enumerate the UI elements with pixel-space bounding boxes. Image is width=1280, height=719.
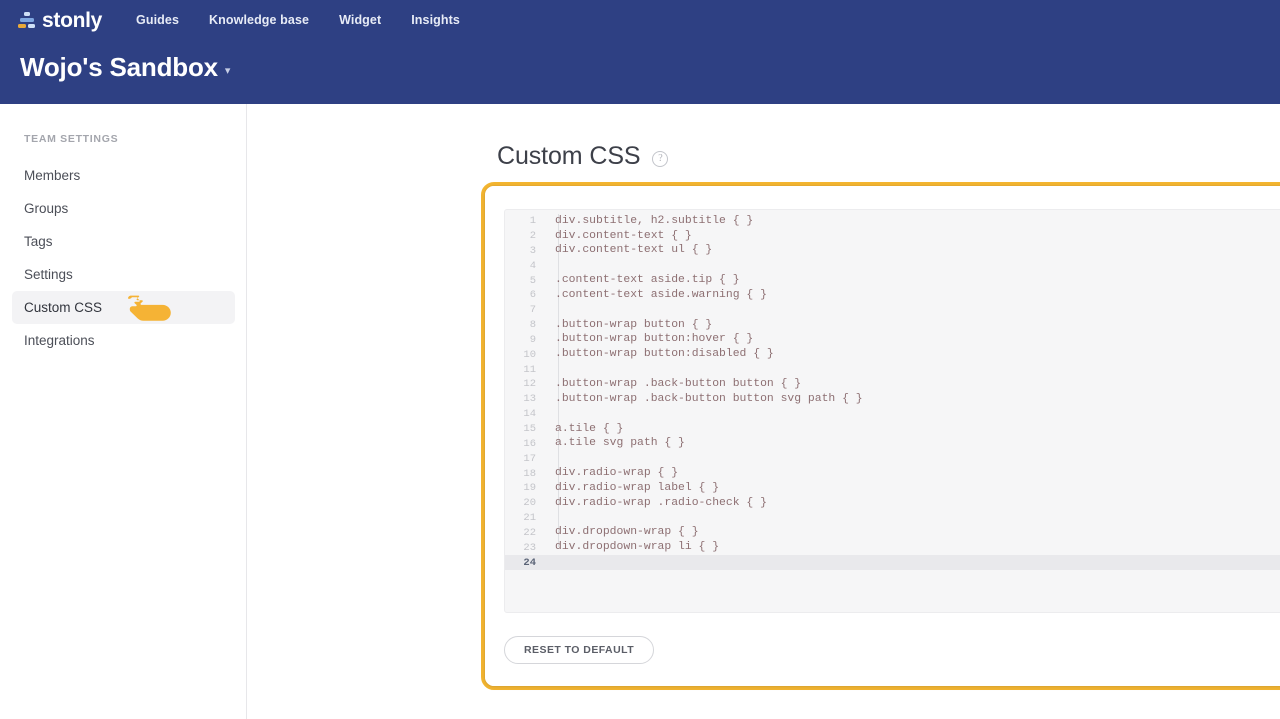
line-number: 13 — [505, 394, 547, 405]
line-number: 19 — [505, 483, 547, 494]
line-number: 9 — [505, 335, 547, 346]
sidebar-item-custom-css[interactable]: Custom CSS — [12, 291, 235, 324]
code-line[interactable]: 10 .button-wrap button:disabled { } — [505, 348, 1280, 363]
page-title: Custom CSS — [497, 144, 640, 169]
nav-link-knowledge-base[interactable]: Knowledge base — [209, 13, 309, 27]
line-number: 15 — [505, 424, 547, 435]
line-text: div.radio-wrap { } — [547, 468, 678, 479]
line-text: .content-text aside.warning { } — [547, 290, 767, 301]
code-line[interactable]: 16 a.tile svg path { } — [505, 437, 1280, 452]
line-text: .button-wrap button:hover { } — [547, 334, 753, 345]
sidebar-item-tags[interactable]: Tags — [12, 225, 235, 258]
line-number: 2 — [505, 231, 547, 242]
code-line[interactable]: 20 div.radio-wrap .radio-check { } — [505, 496, 1280, 511]
code-line[interactable]: 19 div.radio-wrap label { } — [505, 481, 1280, 496]
nav-link-widget[interactable]: Widget — [339, 13, 381, 27]
primary-nav: stonly Guides Knowledge base Widget Insi… — [0, 0, 1280, 40]
line-number: 20 — [505, 498, 547, 509]
help-icon[interactable]: ? — [652, 151, 668, 167]
line-text: a.tile svg path { } — [547, 438, 685, 449]
code-line[interactable]: 3 div.content-text ul { } — [505, 244, 1280, 259]
line-number: 1 — [505, 216, 547, 227]
line-text: div.dropdown-wrap { } — [547, 527, 699, 538]
code-line[interactable]: 22 div.dropdown-wrap { } — [505, 526, 1280, 541]
line-number: 4 — [505, 261, 547, 272]
line-text: .content-text aside.tip { } — [547, 275, 740, 286]
sidebar-item-label: Custom CSS — [24, 301, 102, 315]
sidebar-item-groups[interactable]: Groups — [12, 192, 235, 225]
line-number: 23 — [505, 543, 547, 554]
sidebar-item-list: Members Groups Tags Settings Custom CSS … — [0, 159, 247, 357]
code-line-active[interactable]: 24 — [505, 555, 1280, 570]
workspace-selector[interactable]: Wojo's Sandbox ▾ — [20, 52, 230, 83]
line-text: .button-wrap button { } — [547, 320, 712, 331]
code-line[interactable]: 15 a.tile { } — [505, 422, 1280, 437]
chevron-down-icon: ▾ — [225, 66, 231, 77]
line-number: 3 — [505, 246, 547, 257]
line-text: .button-wrap button:disabled { } — [547, 349, 774, 360]
line-number: 21 — [505, 513, 547, 524]
code-line[interactable]: 11 — [505, 362, 1280, 377]
sidebar-item-label: Groups — [24, 202, 68, 216]
line-number: 14 — [505, 409, 547, 420]
code-line[interactable]: 14 — [505, 407, 1280, 422]
line-text: a.tile { } — [547, 424, 623, 435]
line-text: .button-wrap .back-button button svg pat… — [547, 394, 863, 405]
code-line[interactable]: 13 .button-wrap .back-button button svg … — [505, 392, 1280, 407]
line-number: 22 — [505, 528, 547, 539]
line-number: 10 — [505, 350, 547, 361]
line-number: 11 — [505, 365, 547, 376]
page-header: Custom CSS ? — [497, 144, 668, 169]
custom-css-card: 1 div.subtitle, h2.subtitle { } 2 div.co… — [485, 186, 1280, 686]
line-text: div.content-text ul { } — [547, 245, 712, 256]
line-text: div.radio-wrap label { } — [547, 483, 719, 494]
code-line[interactable]: 17 — [505, 452, 1280, 467]
sidebar-item-label: Members — [24, 169, 80, 183]
line-number: 6 — [505, 290, 547, 301]
line-number: 5 — [505, 276, 547, 287]
code-lines: 1 div.subtitle, h2.subtitle { } 2 div.co… — [505, 210, 1280, 570]
nav-link-insights[interactable]: Insights — [411, 13, 460, 27]
line-number: 24 — [505, 558, 547, 569]
code-line[interactable]: 9 .button-wrap button:hover { } — [505, 333, 1280, 348]
stonly-logo-icon — [18, 11, 36, 29]
code-line[interactable]: 8 .button-wrap button { } — [505, 318, 1280, 333]
line-number: 12 — [505, 379, 547, 390]
sidebar-item-integrations[interactable]: Integrations — [12, 324, 235, 357]
sidebar-item-label: Tags — [24, 235, 53, 249]
line-number: 17 — [505, 454, 547, 465]
brand-logo[interactable]: stonly — [18, 10, 102, 31]
line-text: .button-wrap .back-button button { } — [547, 379, 801, 390]
code-line[interactable]: 18 div.radio-wrap { } — [505, 466, 1280, 481]
sidebar-item-members[interactable]: Members — [12, 159, 235, 192]
code-line[interactable]: 1 div.subtitle, h2.subtitle { } — [505, 214, 1280, 229]
sidebar-item-label: Integrations — [24, 334, 95, 348]
sidebar: TEAM SETTINGS Members Groups Tags Settin… — [0, 104, 247, 719]
line-number: 18 — [505, 469, 547, 480]
line-number: 8 — [505, 320, 547, 331]
css-code-editor[interactable]: 1 div.subtitle, h2.subtitle { } 2 div.co… — [504, 209, 1280, 613]
code-line[interactable]: 23 div.dropdown-wrap li { } — [505, 541, 1280, 556]
workspace-title: Wojo's Sandbox — [20, 52, 218, 83]
line-text: div.subtitle, h2.subtitle { } — [547, 216, 753, 227]
brand-name: stonly — [42, 10, 102, 31]
line-text: div.dropdown-wrap li { } — [547, 542, 719, 553]
line-number: 16 — [505, 439, 547, 450]
nav-link-list: Guides Knowledge base Widget Insights — [136, 13, 460, 27]
reset-to-default-button[interactable]: RESET TO DEFAULT — [504, 636, 654, 664]
code-line[interactable]: 12 .button-wrap .back-button button { } — [505, 377, 1280, 392]
code-line[interactable]: 5 .content-text aside.tip { } — [505, 273, 1280, 288]
sidebar-section-heading: TEAM SETTINGS — [24, 133, 118, 145]
code-line[interactable]: 2 div.content-text { } — [505, 229, 1280, 244]
line-text: div.radio-wrap .radio-check { } — [547, 498, 767, 509]
sidebar-item-label: Settings — [24, 268, 73, 282]
line-text: div.content-text { } — [547, 231, 692, 242]
code-line[interactable]: 21 — [505, 511, 1280, 526]
code-line[interactable]: 7 — [505, 303, 1280, 318]
line-number: 7 — [505, 305, 547, 316]
sidebar-item-settings[interactable]: Settings — [12, 258, 235, 291]
main-content: Custom CSS ? 1 div.subtitle, h2.subtitle… — [247, 104, 1280, 719]
top-navigation-bar: stonly Guides Knowledge base Widget Insi… — [0, 0, 1280, 104]
editor-scroll-area[interactable]: 1 div.subtitle, h2.subtitle { } 2 div.co… — [505, 210, 1280, 612]
code-line[interactable]: 6 .content-text aside.warning { } — [505, 288, 1280, 303]
code-line[interactable]: 4 — [505, 259, 1280, 274]
nav-link-guides[interactable]: Guides — [136, 13, 179, 27]
